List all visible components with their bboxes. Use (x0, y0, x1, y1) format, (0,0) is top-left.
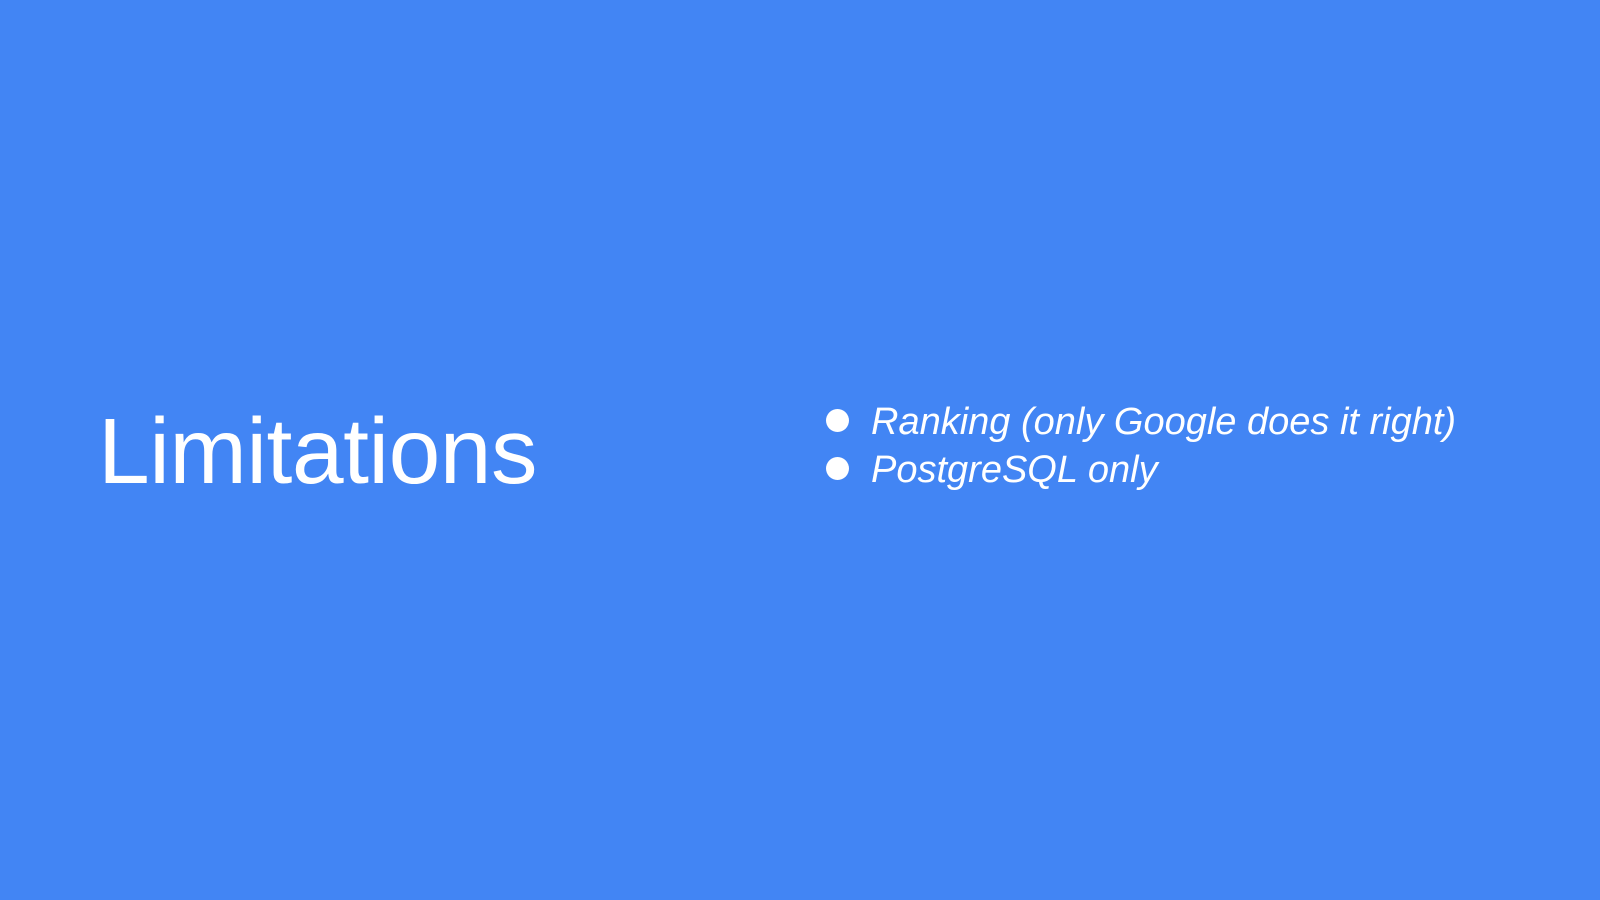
slide-body-block: Ranking (only Google does it right) Post… (826, 398, 1486, 494)
list-item: PostgreSQL only (826, 446, 1486, 494)
list-item-label: Ranking (only Google does it right) (871, 398, 1486, 446)
presentation-slide: Limitations Ranking (only Google does it… (0, 0, 1600, 900)
list-item-label: PostgreSQL only (871, 446, 1486, 494)
bullet-list: Ranking (only Google does it right) Post… (826, 398, 1486, 494)
filled-circle-bullet-icon (826, 409, 849, 432)
slide-title-block: Limitations (98, 392, 738, 512)
filled-circle-bullet-icon (826, 457, 849, 480)
list-item: Ranking (only Google does it right) (826, 398, 1486, 446)
page-title: Limitations (98, 403, 537, 501)
